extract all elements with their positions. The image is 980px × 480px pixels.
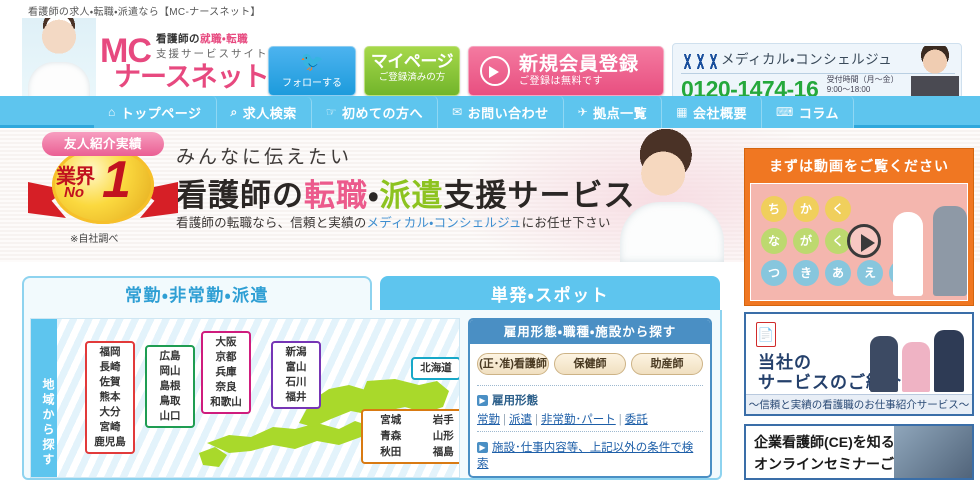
prefecture-cell[interactable]: 福岡: [89, 345, 131, 360]
nav-item-contact[interactable]: ✉お問い合わせ: [438, 96, 564, 128]
tab-spot-work[interactable]: 単発・スポット: [380, 276, 720, 312]
chevron-right-icon: ▶: [477, 395, 488, 406]
region-group-chubu: 新潟 富山 石川 福井: [271, 341, 321, 409]
mypage-title: マイページ: [365, 52, 459, 71]
advanced-search-link[interactable]: 施設･仕事内容等、上記以外の条件で検索: [477, 442, 693, 470]
hero-subtitle: 看護師の転職なら、信頼と実績のメディカル・コンシェルジュにお任せ下さい: [176, 212, 611, 231]
region-group-kyushu: 福岡 長崎 佐賀 熊本 大分 宮崎 鹿児島: [85, 341, 135, 454]
meta-tagline: 看護師の求人・転職・派遣なら【MC-ナースネット】: [0, 0, 980, 18]
prefecture-cell[interactable]: 北海道: [415, 361, 457, 376]
bubble-ga: が: [793, 228, 819, 254]
prefecture-cell[interactable]: 兵庫: [205, 365, 247, 380]
medal-rank-number: 1: [102, 154, 131, 206]
jobtype-button-public-health-nurse[interactable]: 保健師: [554, 353, 626, 375]
prefecture-cell[interactable]: 鳥取: [149, 394, 191, 409]
mail-icon: ✉: [452, 105, 463, 119]
logo-name: ナースネット: [114, 55, 269, 94]
contact-hours-line2: 9:00～18:00: [827, 85, 871, 94]
mc-logo-icon: [681, 54, 721, 69]
prefecture-cell[interactable]: 奈良: [205, 380, 247, 395]
video-man-figure: [933, 206, 967, 296]
nav-label-job-search: 求人検索: [243, 103, 297, 122]
link-contract[interactable]: 委託: [625, 414, 648, 426]
prefecture-cell[interactable]: 佐賀: [89, 375, 131, 390]
prefecture-cell[interactable]: 山形: [418, 429, 461, 444]
prefecture-cell[interactable]: 青森: [365, 429, 417, 444]
bubble-na: な: [761, 228, 787, 254]
search-icon: ⌕: [231, 105, 238, 120]
link-full-time[interactable]: 常勤: [477, 414, 500, 426]
logo-subtitle-1: 看護師の就職・転職: [156, 31, 248, 46]
hero-sub-part2: にお任せ下さい: [522, 216, 611, 230]
link-separator: |: [619, 414, 622, 426]
prefecture-cell[interactable]: 秋田: [365, 445, 417, 460]
nav-item-job-search[interactable]: ⌕求人検索: [217, 97, 312, 129]
nav-item-first-time[interactable]: ☞初めての方へ: [312, 96, 438, 128]
prefecture-cell[interactable]: 石川: [275, 375, 317, 390]
nav-label-company: 会社概要: [693, 103, 747, 122]
page-root: 看護師の求人・転職・派遣なら【MC-ナースネット】 MC 看護師の就職・転職 支…: [0, 0, 980, 480]
signup-button[interactable]: 新規会員登録 ご登録は無料です: [468, 46, 664, 96]
medal-no-label: No: [64, 184, 84, 201]
prefecture-cell[interactable]: 大阪: [205, 335, 247, 350]
prefecture-cell[interactable]: 大分: [89, 405, 131, 420]
seminar-banner[interactable]: 企業看護師(CE)を知る オンラインセミナーご案内: [744, 424, 974, 480]
signup-title: 新規会員登録: [519, 54, 639, 75]
prefecture-cell[interactable]: 新潟: [275, 345, 317, 360]
person-figure-left: [870, 336, 898, 392]
seminar-photo: [894, 426, 972, 478]
employment-type-links: 常勤|派遣|非常勤･パート|委託: [470, 410, 710, 427]
hero-title-tenshoku: 転職: [304, 178, 368, 213]
main-navigation: ⌂トップページ⌕求人検索☞初めての方へ✉お問い合わせ✈拠点一覧▦会社概要⌨コラム: [0, 96, 980, 128]
nav-label-locations: 拠点一覧: [593, 103, 647, 122]
prefecture-cell[interactable]: 宮城: [365, 413, 417, 428]
prefecture-cell[interactable]: 岩手: [418, 413, 461, 428]
prefecture-cell[interactable]: 富山: [275, 360, 317, 375]
site-logo[interactable]: MC 看護師の就職・転職 支援サービスサイト ナースネット: [100, 28, 270, 90]
nurse-photo: [22, 18, 96, 96]
hero-pretitle: みんなに伝えたい: [176, 142, 352, 169]
chevron-right-icon: ▶: [477, 442, 488, 453]
prefecture-cell[interactable]: 鹿児島: [89, 435, 131, 450]
prefecture-cell[interactable]: 長崎: [89, 360, 131, 375]
bubble-ku: く: [825, 196, 851, 222]
bubble-chi: ち: [761, 196, 787, 222]
hero-sub-brand: メディカル・コンシェルジュ: [367, 216, 522, 230]
home-icon: ⌂: [108, 105, 116, 119]
bubble-a: あ: [825, 260, 851, 286]
prefecture-cell[interactable]: 熊本: [89, 390, 131, 405]
divider-dotted: [477, 431, 703, 432]
nav-item-company[interactable]: ▦会社概要: [662, 96, 762, 128]
contact-box[interactable]: メディカル・コンシェルジュ 0120-1474-16 受付時間（月～金） 9:0…: [672, 43, 962, 99]
prefecture-cell[interactable]: 山口: [149, 409, 191, 424]
jobtype-search-box: 雇用形態・職種・施設から探す (正･准)看護師 保健師 助産師 ▶雇用形態 常勤…: [468, 318, 712, 478]
search-tabs: 常勤・非常勤・派遣 単発・スポット: [22, 276, 722, 312]
region-group-tohoku: 宮城 岩手 青森 山形 秋田 福島: [361, 409, 460, 464]
nav-label-contact: お問い合わせ: [468, 103, 549, 122]
prefecture-cell[interactable]: 広島: [149, 349, 191, 364]
video-nurse-figure: [893, 212, 923, 296]
prefecture-cell[interactable]: 和歌山: [205, 395, 247, 410]
video-promo-card[interactable]: まずは動画をご覧ください ち か く な が く つ き あ え る: [744, 148, 974, 306]
pin-map-icon: ✈: [578, 105, 589, 119]
nav-label-column: コラム: [799, 103, 839, 122]
bubble-ki: き: [793, 260, 819, 286]
link-dispatch[interactable]: 派遣: [509, 414, 532, 426]
arrow-right-circle-icon: [480, 56, 510, 86]
hero-sub-part1: 看護師の転職なら、信頼と実績の: [176, 216, 367, 230]
nav-item-top[interactable]: ⌂トップページ: [94, 96, 217, 128]
advanced-search-row: ▶施設･仕事内容等、上記以外の条件で検索: [470, 436, 710, 474]
divider-dotted: [477, 385, 703, 386]
region-search-label: 地域から探す: [31, 319, 57, 478]
hand-point-icon: ☞: [326, 105, 337, 119]
employment-type-title: ▶雇用形態: [470, 390, 710, 410]
nav-item-column[interactable]: ⌨コラム: [762, 96, 854, 128]
link-separator: |: [535, 414, 538, 426]
hero-title: 看護師の転職・派遣支援サービス: [176, 170, 636, 215]
jobtype-button-midwife[interactable]: 助産師: [631, 353, 703, 375]
play-button-icon[interactable]: [847, 224, 881, 258]
building-icon: ▦: [676, 105, 688, 119]
logo-sub1-a: 看護師: [156, 33, 189, 45]
prefecture-cell[interactable]: 岡山: [149, 364, 191, 379]
hero-title-part1: 看護師の: [176, 178, 304, 213]
signup-note: ご登録は無料です: [519, 75, 639, 89]
region-group-chugoku: 広島 岡山 島根 鳥取 山口: [145, 345, 195, 428]
pdf-footer-text: ～信頼と実績の看護職のお仕事紹介サービス～: [746, 394, 972, 414]
medal-note: ※自社調べ: [70, 230, 118, 245]
award-medal: 友人紹介実績 業界 No 1 ※自社調べ: [28, 132, 178, 252]
logo-sub1-b: の: [189, 33, 200, 45]
person-figure-right: [934, 330, 964, 392]
pdf-file-icon: 📄: [756, 322, 776, 347]
contact-hours-line1: 受付時間（月～金）: [827, 75, 899, 84]
hero-title-dot: ・: [368, 178, 380, 213]
video-thumbnail[interactable]: ち か く な が く つ き あ え る: [750, 183, 968, 301]
tab-regular-employment[interactable]: 常勤・非常勤・派遣: [22, 276, 372, 312]
hero-nurse-photo: [606, 128, 736, 262]
mypage-button[interactable]: マイページ ご登録済みの方: [364, 46, 460, 96]
nav-label-top: トップページ: [121, 103, 202, 122]
logo-sub1-c: 就職・転職: [200, 33, 248, 45]
twitter-bird-icon: 🐦: [300, 54, 324, 72]
jobtype-button-row: (正･准)看護師 保健師 助産師: [470, 344, 710, 381]
service-intro-pdf-banner[interactable]: 📄 当社の サービスのご紹介 ～信頼と実績の看護職のお仕事紹介サービス～: [744, 312, 974, 416]
pdf-people-illustration: [870, 320, 966, 392]
jobtype-heading: 雇用形態・職種・施設から探す: [470, 320, 710, 344]
person-figure-center: [902, 342, 930, 392]
prefecture-cell[interactable]: 福島: [418, 445, 461, 460]
nav-label-first-time: 初めての方へ: [342, 103, 423, 122]
nav-item-locations[interactable]: ✈拠点一覧: [564, 96, 663, 128]
video-heading: まずは動画をご覧ください: [750, 154, 968, 180]
contact-brand: メディカル・コンシェルジュ: [721, 52, 892, 67]
agent-photo: [911, 46, 959, 98]
comment-icon: ⌨: [776, 105, 794, 119]
bubble-ka: か: [793, 196, 819, 222]
link-separator: |: [503, 414, 506, 426]
region-group-hokkaido: 北海道: [411, 357, 460, 380]
prefecture-cell[interactable]: 島根: [149, 379, 191, 394]
region-map: 地域から探す 福岡 長崎 佐賀 熊本 大分 宮崎 鹿児島 広島 岡山 島根 鳥取…: [30, 318, 460, 478]
prefecture-cell[interactable]: 福井: [275, 390, 317, 405]
hero-title-haken: 派遣: [380, 178, 444, 213]
bubble-e: え: [857, 260, 883, 286]
employment-type-label: 雇用形態: [492, 395, 538, 407]
prefecture-cell[interactable]: 京都: [205, 350, 247, 365]
twitter-follow-label: フォローする: [282, 74, 342, 89]
mypage-note: ご登録済みの方: [365, 71, 459, 85]
prefecture-cell[interactable]: 宮崎: [89, 420, 131, 435]
contact-hours: 受付時間（月～金） 9:00～18:00: [827, 75, 899, 95]
site-header: MC 看護師の就職・転職 支援サービスサイト ナースネット 🐦 フォローする マ…: [0, 18, 980, 96]
region-group-kansai: 大阪 京都 兵庫 奈良 和歌山: [201, 331, 251, 414]
link-part-time[interactable]: 非常勤･パート: [541, 414, 616, 426]
bubble-tsu: つ: [761, 260, 787, 286]
twitter-follow-button[interactable]: 🐦 フォローする: [268, 46, 356, 96]
jobtype-button-nurse[interactable]: (正･准)看護師: [477, 353, 549, 375]
